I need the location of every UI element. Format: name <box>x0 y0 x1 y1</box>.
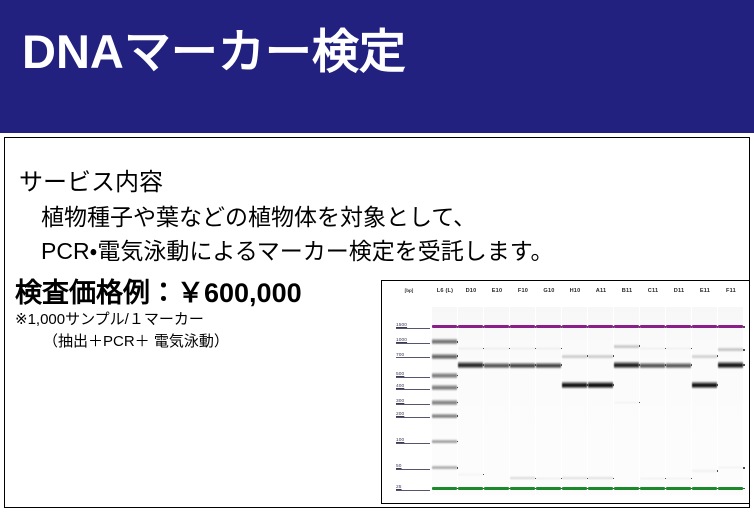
gel-band-100bp <box>432 439 457 445</box>
gel-band-200bp <box>432 413 457 419</box>
ladder-tick-line <box>396 443 430 444</box>
bp-unit-label: [bp] <box>405 288 414 293</box>
gel-band-300bp <box>432 399 457 405</box>
gel-band-600bp <box>718 361 743 369</box>
gel-band-850bp <box>458 347 483 350</box>
gel-band-700bp <box>588 354 613 359</box>
gel-band-1500bp <box>666 325 691 328</box>
gel-band-25bp <box>536 487 561 490</box>
gel-lane-b11 <box>614 307 639 495</box>
gel-band-25bp <box>614 487 639 490</box>
gel-band-600bp <box>510 362 535 369</box>
gel-band-1500bp <box>458 325 483 328</box>
gel-band-25bp <box>666 487 691 490</box>
gel-band-600bp <box>640 362 665 369</box>
gel-lane-l6l <box>432 307 457 495</box>
gel-lane-a11 <box>588 307 613 495</box>
ladder-tick-line <box>396 490 430 491</box>
gel-lane-label-d10: D10 <box>466 288 477 294</box>
gel-band-420bp <box>588 381 613 389</box>
content-panel: サービス内容 植物種子や葉などの植物体を対象として、 PCR・電気泳動によるマー… <box>4 137 750 508</box>
gel-lane-label-g10: G10 <box>543 288 554 294</box>
gel-band-1500bp <box>692 325 717 328</box>
ladder-tick-line <box>396 343 430 344</box>
gel-band-35bp <box>562 476 587 480</box>
gel-band-700bp <box>562 354 587 359</box>
gel-band-25bp <box>432 487 457 490</box>
ladder-tick-line <box>396 417 430 418</box>
ladder-tick-line <box>396 469 430 470</box>
gel-band-1500bp <box>718 325 743 328</box>
gel-band-35bp <box>666 477 691 480</box>
gel-band-900bp <box>614 344 639 349</box>
gel-band-25bp <box>510 487 535 490</box>
gel-lane-label-a11: A11 <box>596 288 607 294</box>
gel-lane-label-f10: F10 <box>518 288 528 294</box>
gel-band-850bp <box>484 347 509 350</box>
gel-band-35bp <box>588 476 613 480</box>
gel-band-400bp <box>432 384 457 390</box>
gel-band-40bp <box>458 473 483 476</box>
gel-band-850bp <box>666 347 691 350</box>
service-section-heading: サービス内容 <box>19 162 163 197</box>
gel-band-1500bp <box>614 325 639 328</box>
page-title: DNAマーカー検定 <box>22 28 406 75</box>
gel-band-600bp <box>666 362 691 369</box>
gel-band-850bp <box>640 347 665 350</box>
gel-lane-label-h10: H10 <box>570 288 581 294</box>
service-description-line-1: 植物種子や葉などの植物体を対象として、 <box>41 198 476 232</box>
gel-band-300bp <box>614 401 639 404</box>
ladder-tick-line <box>396 377 430 378</box>
gel-lane-d10 <box>458 307 483 495</box>
gel-lane-label-e10: E10 <box>492 288 503 294</box>
gel-band-marker-dot <box>743 364 745 366</box>
gel-band-25bp <box>692 487 717 490</box>
gel-band-marker-dot <box>743 349 745 351</box>
gel-band-25bp <box>562 487 587 490</box>
gel-band-1500bp <box>588 325 613 328</box>
gel-band-500bp <box>432 372 457 378</box>
gel-lane-e11 <box>692 307 717 495</box>
gel-lane-h10 <box>562 307 587 495</box>
gel-band-420bp <box>692 381 717 389</box>
gel-band-820bp <box>718 347 743 352</box>
price-note-line-2: （抽出＋PCR＋ 電気泳動） <box>43 330 229 351</box>
gel-band-1500bp <box>640 325 665 328</box>
gel-band-700bp <box>432 353 457 360</box>
gel-lane-label-f11: F11 <box>726 288 736 294</box>
gel-band-600bp <box>458 361 483 369</box>
gel-band-35bp <box>640 477 665 480</box>
gel-band-35bp <box>536 477 561 481</box>
gel-lane-d11 <box>666 307 691 495</box>
gel-band-50bp <box>432 465 457 470</box>
gel-band-25bp <box>484 487 509 490</box>
price-note-line-1: ※1,000サンプル/１マーカー <box>15 308 204 329</box>
ladder-tick-line <box>396 389 430 390</box>
gel-band-marker-dot <box>743 488 745 490</box>
gel-lane-label-d11: D11 <box>674 288 685 294</box>
gel-band-1500bp <box>484 325 509 328</box>
gel-lane-label-c11: C11 <box>648 288 659 294</box>
gel-band-1000bp <box>432 338 457 345</box>
ladder-tick-line <box>396 357 430 358</box>
gel-lane-label-b11: B11 <box>622 288 633 294</box>
gel-lane-c11 <box>640 307 665 495</box>
gel-band-850bp <box>536 347 561 350</box>
gel-band-1500bp <box>510 325 535 328</box>
gel-band-marker-dot <box>743 326 745 328</box>
gel-plot-area: [bp] L6 (L)D10E10F10G10H10A11B11C11D11E1… <box>382 281 749 503</box>
service-description-line-2: PCR・電気泳動によるマーカー検定を受託します。 <box>41 232 553 266</box>
gel-lane-label-e11: E11 <box>700 288 710 294</box>
gel-band-45bp <box>692 469 717 472</box>
gel-band-1500bp <box>536 325 561 328</box>
gel-band-35bp <box>510 476 535 480</box>
gel-band-420bp <box>562 381 587 389</box>
gel-band-25bp <box>718 487 743 490</box>
gel-band-50bp <box>718 466 743 469</box>
gel-band-25bp <box>588 487 613 490</box>
gel-band-25bp <box>640 487 665 490</box>
gel-lane-f11 <box>718 307 743 495</box>
gel-band-600bp <box>614 361 639 369</box>
gel-band-1500bp <box>562 325 587 328</box>
gel-electrophoresis-figure: [bp] L6 (L)D10E10F10G10H10A11B11C11D11E1… <box>381 280 750 504</box>
page-header-band: DNAマーカー検定 <box>0 0 754 133</box>
gel-band-25bp <box>458 487 483 490</box>
gel-lane-label-l6l: L6 (L) <box>437 288 453 294</box>
gel-lane-e10 <box>484 307 509 495</box>
gel-band-850bp <box>510 347 535 350</box>
gel-lane-f10 <box>510 307 535 495</box>
gel-band-600bp <box>536 362 561 369</box>
gel-band-1500bp <box>432 325 457 328</box>
gel-lane-g10 <box>536 307 561 495</box>
gel-band-marker-dot <box>743 467 745 469</box>
ladder-tick-line <box>396 328 430 329</box>
gel-band-700bp <box>692 354 717 359</box>
ladder-tick-line <box>396 404 430 405</box>
price-example: 検査価格例：￥600,000 <box>15 271 302 310</box>
gel-band-600bp <box>484 362 509 369</box>
